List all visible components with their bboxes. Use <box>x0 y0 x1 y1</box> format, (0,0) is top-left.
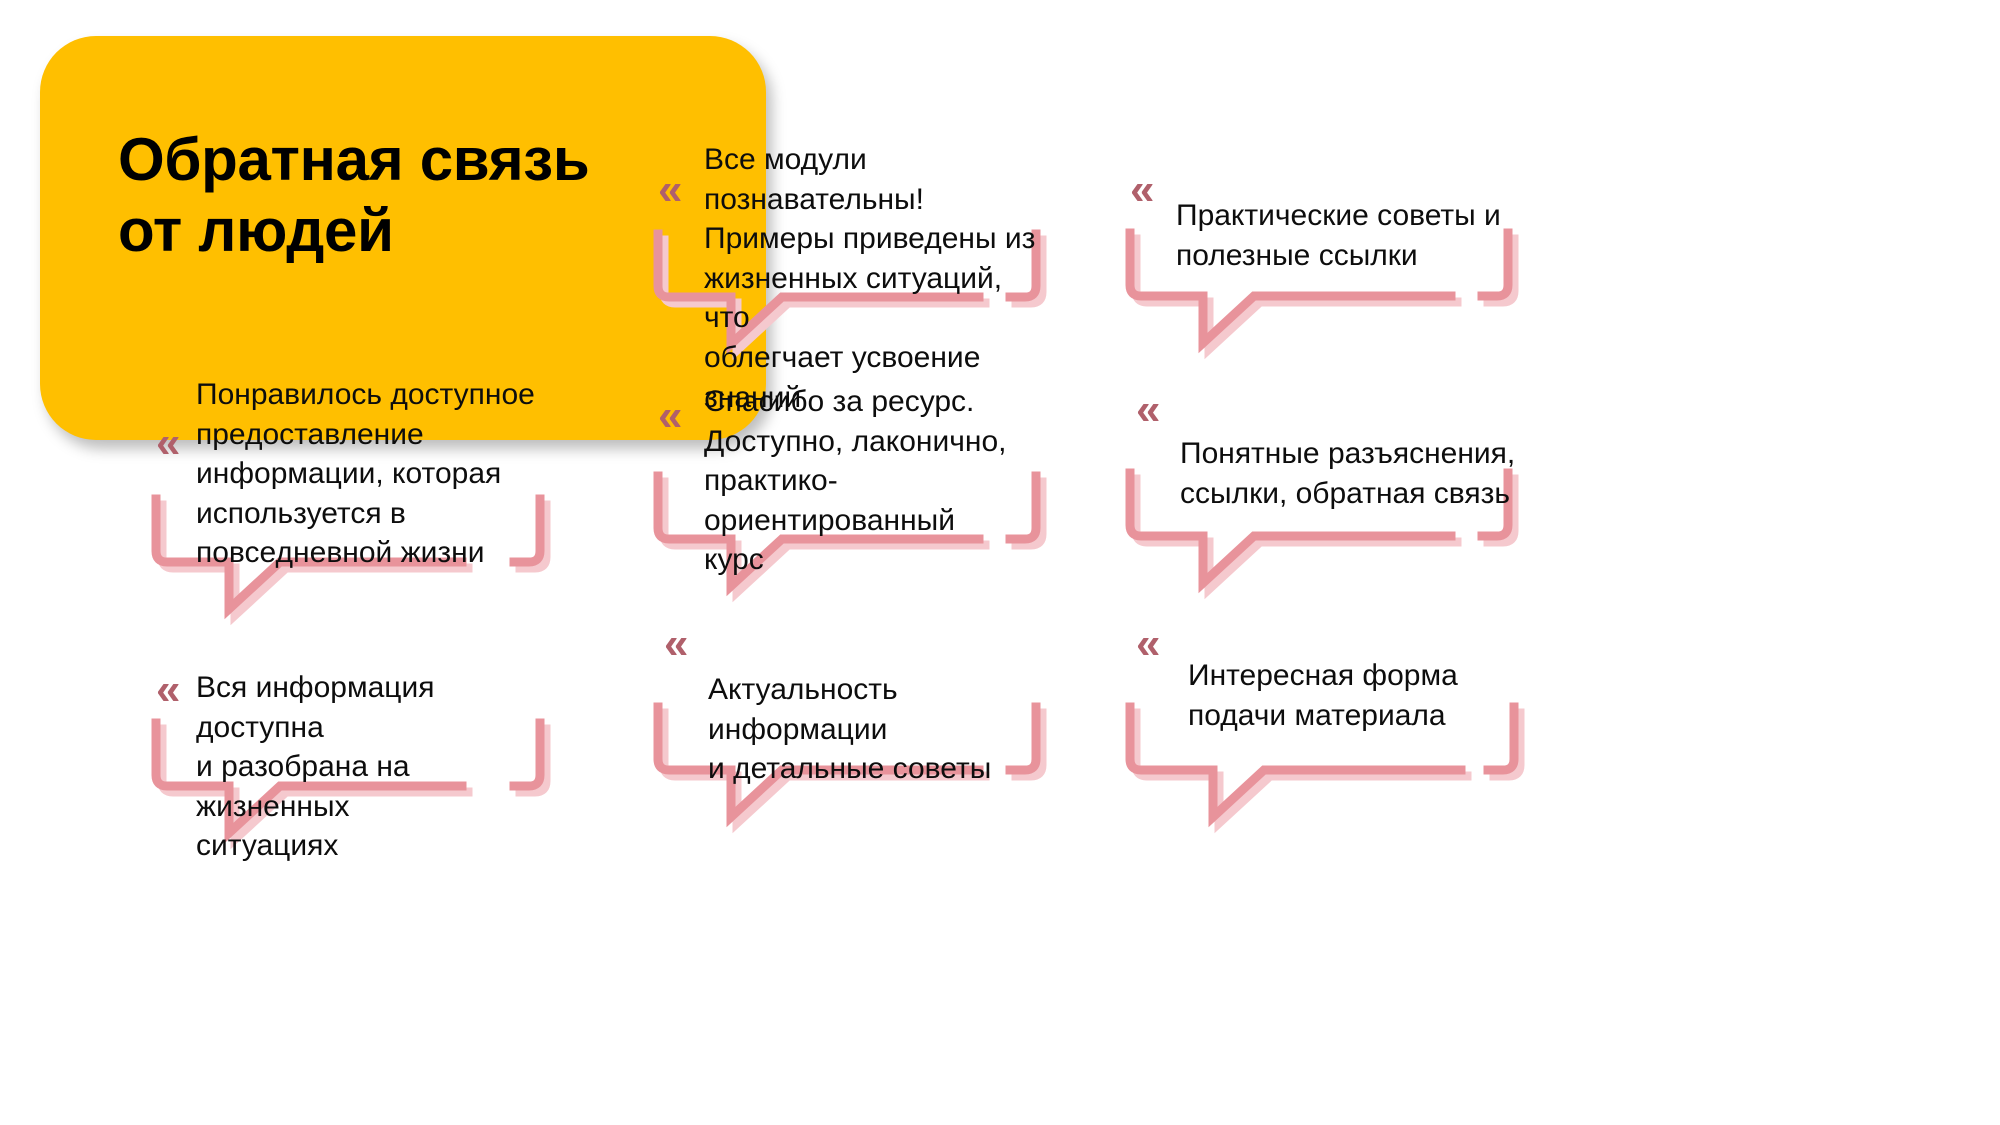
testimonial-card: « Все модули познавательны! Примеры прив… <box>650 140 1050 355</box>
testimonial-text: Спасибо за ресурс. Доступно, лаконично, … <box>704 382 1054 580</box>
testimonial-card: « Практические советы и полезные ссылки <box>1122 168 1522 358</box>
testimonial-text: Вся информация доступна и разобрана на ж… <box>196 668 551 866</box>
testimonial-text: Понравилось доступное предоставление инф… <box>196 375 536 573</box>
quote-open-icon: « <box>664 622 688 666</box>
testimonial-text: Практические советы и полезные ссылки <box>1176 196 1516 275</box>
quote-open-icon: « <box>658 168 682 212</box>
testimonial-card: « Актуальность информации и детальные со… <box>650 622 1050 822</box>
testimonial-text: Понятные разъяснения, ссылки, обратная с… <box>1180 434 1520 513</box>
slide-canvas: Обратная связь от людей « Все модули поз… <box>0 0 2000 1125</box>
quote-open-icon: « <box>1136 388 1160 432</box>
testimonial-text: Все модули познавательны! Примеры привед… <box>704 140 1044 417</box>
quote-open-icon: « <box>156 668 180 712</box>
quote-open-icon: « <box>1136 622 1160 666</box>
testimonial-card: « Понравилось доступное предоставление и… <box>148 375 548 590</box>
testimonial-card: « Понятные разъяснения, ссылки, обратная… <box>1122 388 1522 588</box>
quote-open-icon: « <box>658 394 682 438</box>
testimonial-card: « Интересная форма подачи материала <box>1122 622 1522 822</box>
testimonial-card: « Спасибо за ресурс. Доступно, лаконично… <box>650 382 1050 597</box>
testimonial-card: « Вся информация доступна и разобрана на… <box>148 668 548 858</box>
testimonial-text: Актуальность информации и детальные сове… <box>708 670 1048 789</box>
quote-open-icon: « <box>1130 168 1154 212</box>
quote-open-icon: « <box>156 421 180 465</box>
page-title: Обратная связь от людей <box>118 124 718 267</box>
testimonial-text: Интересная форма подачи материала <box>1188 656 1528 735</box>
